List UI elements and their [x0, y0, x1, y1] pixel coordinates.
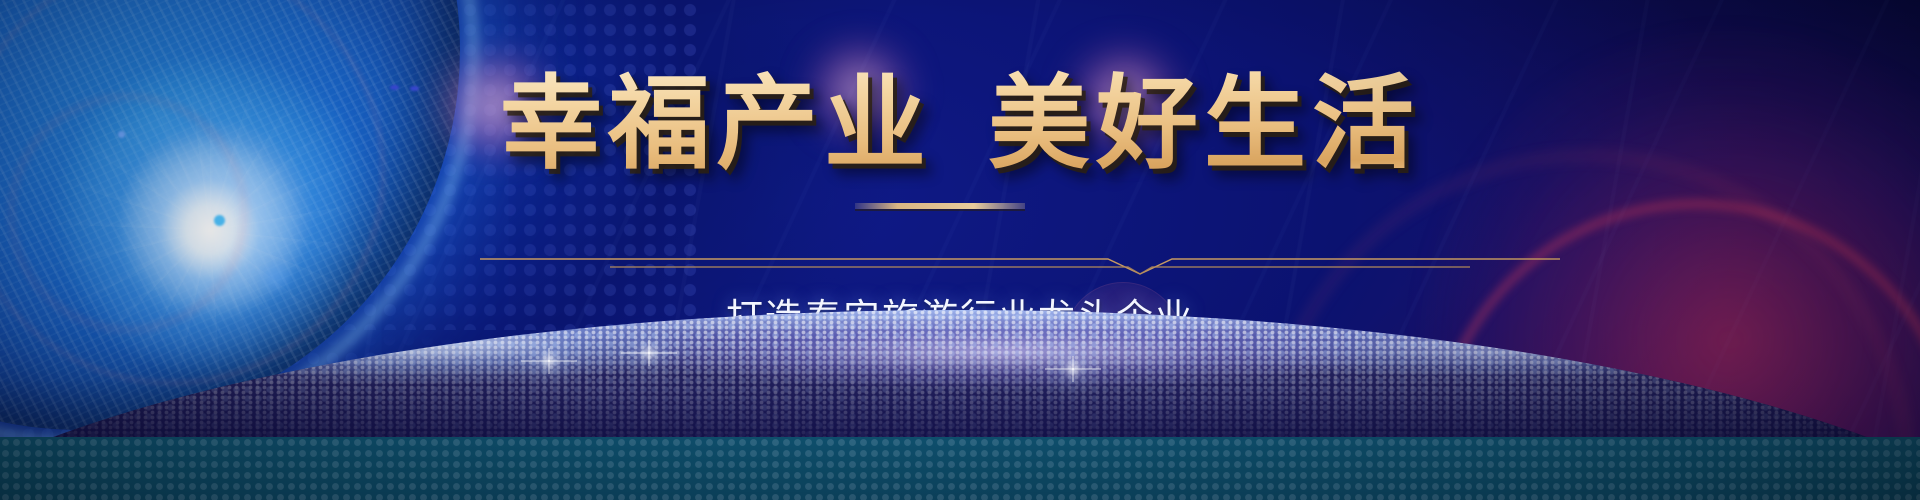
footer-dot-texture [0, 437, 1920, 500]
city-light-star [548, 360, 550, 362]
light-speck [214, 215, 225, 226]
footer-band [0, 437, 1920, 500]
title-part-1: 幸福产业 [500, 67, 932, 181]
title-part-2: 美好生活 [988, 67, 1420, 181]
city-light-star [1072, 368, 1074, 370]
hero-banner: 幸福产业美好生活 打造泰安旅游行业龙头企业 [0, 0, 1920, 500]
page-title: 幸福产业美好生活 [0, 68, 1920, 180]
gold-divider-ornament [0, 246, 1920, 280]
city-light-star [648, 352, 650, 354]
title-underline-bar [855, 203, 1025, 209]
